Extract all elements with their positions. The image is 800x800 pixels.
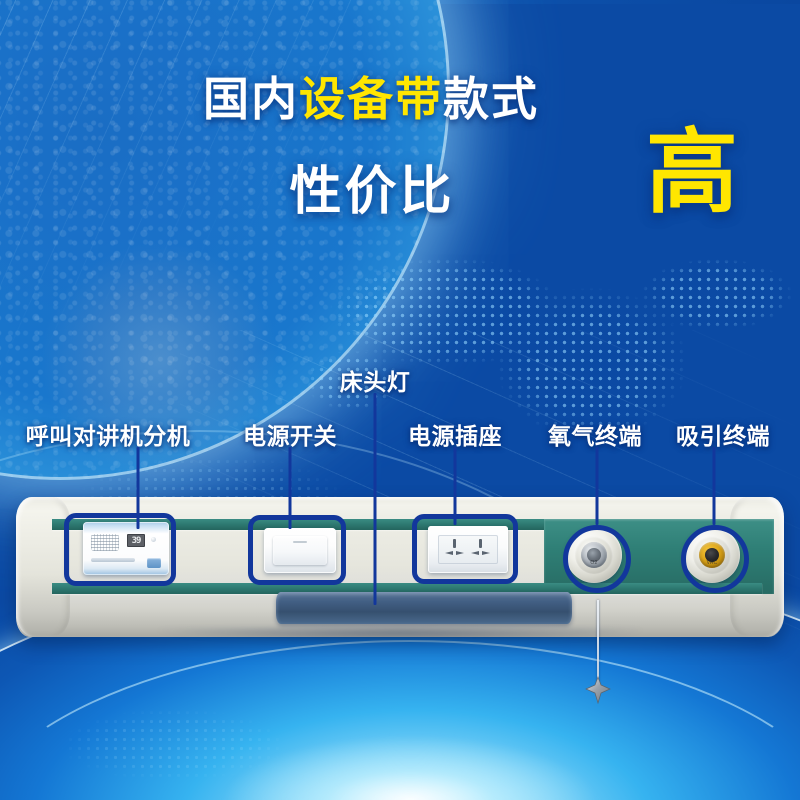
callout-label-oxygen: 氧气终端 [548, 417, 642, 451]
product-banner: 国内设备带款式 性价比 高 呼叫对讲机分机 电源开关 床头灯 电源插座 氧气终端… [0, 0, 800, 800]
callout-leader-intercom [137, 447, 140, 529]
callout-label-suction: 吸引终端 [676, 417, 770, 451]
callout-leader-power-socket [454, 447, 457, 525]
callout-label-power-switch: 电源开关 [243, 417, 337, 451]
callout-group: 呼叫对讲机分机 电源开关 床头灯 电源插座 氧气终端 吸引终端 [0, 0, 800, 800]
callout-leader-oxygen [596, 447, 599, 525]
callout-leader-bed-lamp [374, 393, 377, 605]
callout-label-power-socket: 电源插座 [408, 417, 502, 451]
callout-label-bed-lamp: 床头灯 [340, 363, 411, 397]
callout-leader-suction [713, 447, 716, 525]
callout-label-intercom: 呼叫对讲机分机 [26, 417, 191, 451]
callout-leader-power-switch [289, 447, 292, 529]
